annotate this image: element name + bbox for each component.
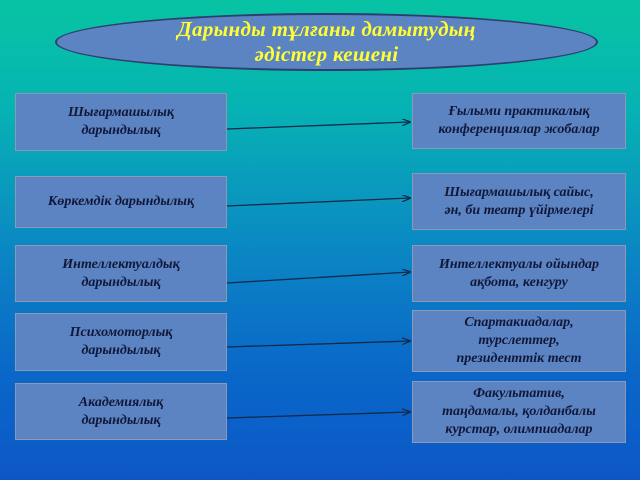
left-box-3-label: Интеллектуалдық дарындылық — [56, 256, 185, 292]
left-box-4-label: Психомоторлық дарындылық — [64, 324, 179, 360]
arrow-right-icon-3 — [227, 272, 410, 283]
right-box-4[interactable]: Спартакиадалар, турслеттер, президенттік… — [412, 310, 626, 372]
right-box-1-label: Ғылыми практикалық конференциялар жобала… — [432, 103, 605, 139]
left-box-3[interactable]: Интеллектуалдық дарындылық — [15, 245, 227, 302]
arrow-right-icon-2 — [227, 198, 410, 206]
left-box-1-label: Шығармашылық дарындылық — [62, 104, 180, 140]
left-box-2-label: Көркемдік дарындылық — [42, 193, 200, 211]
slide-canvas: Дарынды тұлғаны дамытудың әдістер кешені… — [0, 0, 640, 480]
right-box-2-label: Шығармашылық сайыс, ән, би театр үйірмел… — [438, 184, 599, 220]
page-title: Дарынды тұлғаны дамытудың әдістер кешені — [163, 17, 489, 67]
arrow-right-icon-4 — [227, 341, 410, 347]
left-box-2[interactable]: Көркемдік дарындылық — [15, 176, 227, 228]
right-box-1[interactable]: Ғылыми практикалық конференциялар жобала… — [412, 93, 626, 149]
left-box-5[interactable]: Академиялық дарындылық — [15, 383, 227, 440]
left-box-4[interactable]: Психомоторлық дарындылық — [15, 313, 227, 371]
title-ellipse: Дарынды тұлғаны дамытудың әдістер кешені — [55, 13, 598, 71]
right-box-2[interactable]: Шығармашылық сайыс, ән, би театр үйірмел… — [412, 173, 626, 230]
right-box-4-label: Спартакиадалар, турслеттер, президенттік… — [450, 314, 587, 368]
right-box-3-label: Интеллектуалы ойындар ақбота, кенгуру — [433, 256, 605, 292]
right-box-5[interactable]: Факультатив, таңдамалы, қолданбалы курст… — [412, 381, 626, 443]
left-box-1[interactable]: Шығармашылық дарындылық — [15, 93, 227, 151]
left-box-5-label: Академиялық дарындылық — [73, 394, 169, 430]
right-box-5-label: Факультатив, таңдамалы, қолданбалы курст… — [436, 385, 602, 439]
right-box-3[interactable]: Интеллектуалы ойындар ақбота, кенгуру — [412, 245, 626, 302]
arrow-right-icon-1 — [227, 122, 410, 129]
arrow-right-icon-5 — [227, 412, 410, 418]
